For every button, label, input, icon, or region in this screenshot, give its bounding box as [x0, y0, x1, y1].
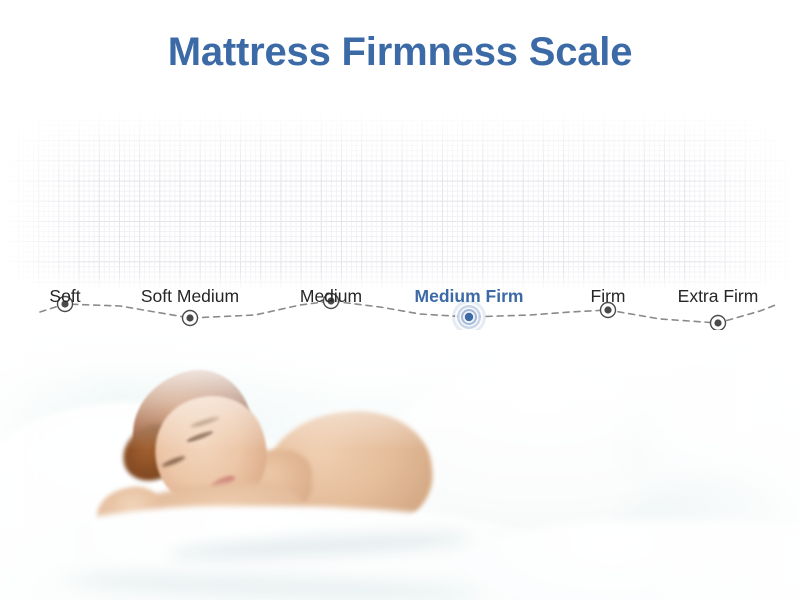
title-area: Mattress Firmness Scale [0, 0, 800, 105]
photo-edge-fade [0, 330, 800, 600]
scale-label-extra-firm[interactable]: Extra Firm [678, 285, 759, 307]
scale-label-firm[interactable]: Firm [591, 285, 626, 307]
page-title: Mattress Firmness Scale [168, 30, 633, 75]
scale-labels-row: SoftSoft MediumMediumMedium FirmFirmExtr… [0, 285, 800, 319]
firmness-scale-page: Mattress Firmness Scale SoftSoft MediumM… [0, 0, 800, 600]
sleeping-woman-photo [0, 330, 800, 600]
marker-center-dot [714, 319, 721, 326]
scale-label-soft-medium[interactable]: Soft Medium [141, 285, 239, 307]
scale-label-medium-firm[interactable]: Medium Firm [415, 285, 524, 307]
scale-label-soft[interactable]: Soft [49, 285, 80, 307]
scale-label-medium[interactable]: Medium [300, 285, 362, 307]
